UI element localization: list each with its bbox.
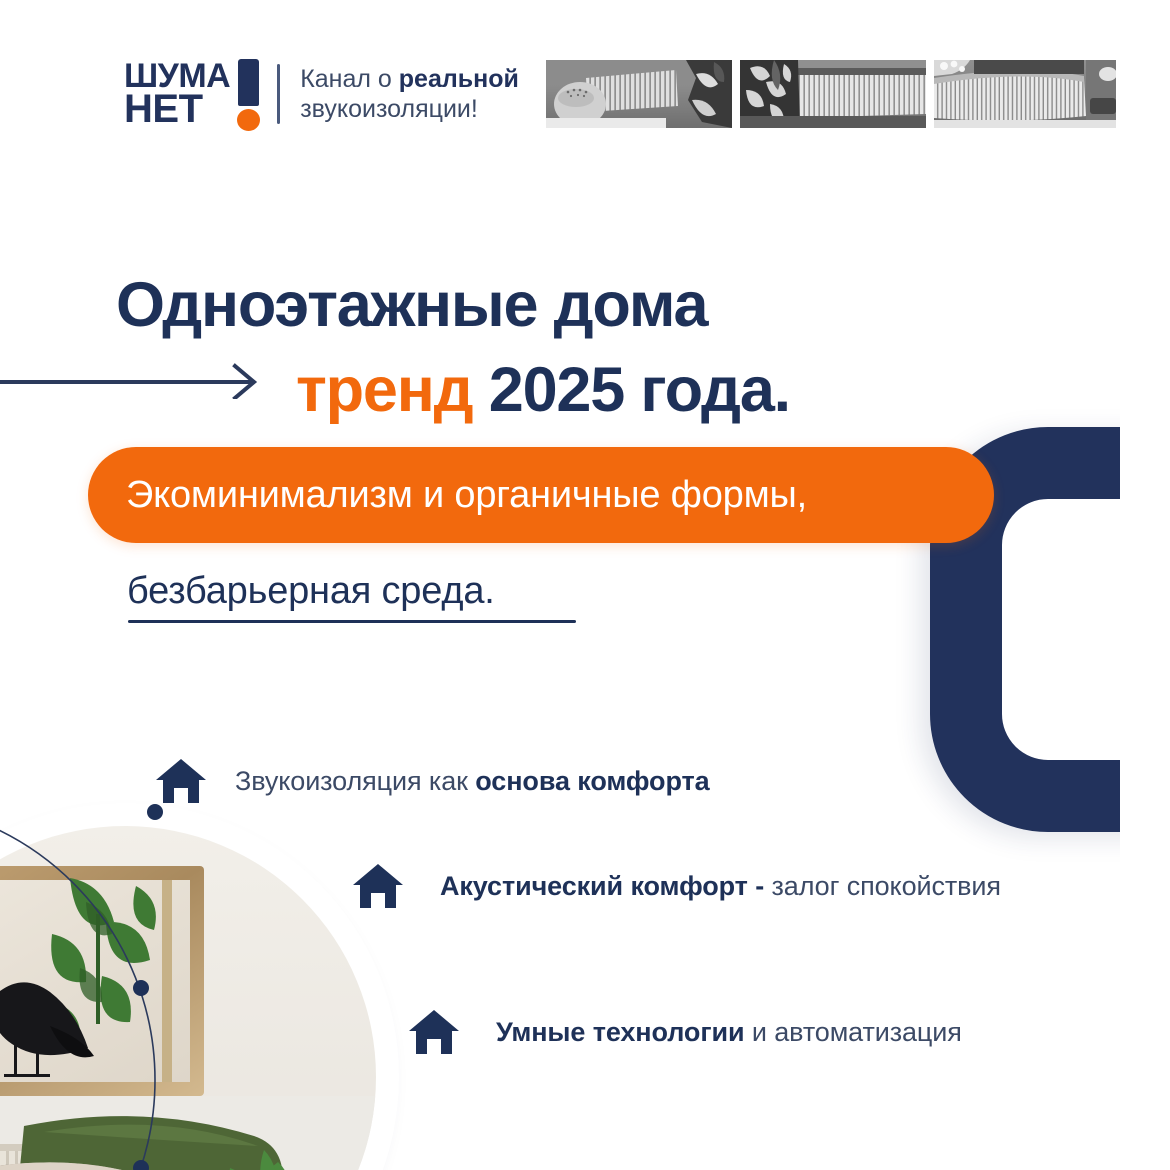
headline-accent-word: тренд [296,355,472,425]
headline-line-2-rest: 2025 года. [472,355,790,425]
logo-wordmark: ШУМА НЕТ [124,62,230,127]
acoustic-panel-vase-photo [546,60,732,128]
poster-canvas: ШУМА НЕТ Канал о реальной звукоизоляции! [0,0,1170,1170]
tagline-plain-1: Канал о [300,65,399,93]
c-ring-edge-mask [1120,400,1170,870]
bullet-1-bold: основа комфорта [475,766,709,796]
bullet-2-bold: Акустический комфорт - [440,871,764,901]
page-title: Одноэтажные дома тренд 2025 года. [110,274,1010,422]
interior-room-photo-inner [0,826,376,1170]
acoustic-panel-plant-photo [740,60,926,128]
exclamation-dot [237,109,260,131]
headline-line-1: Одноэтажные дома [110,274,1010,337]
bullet-1-plain-before: Звукоизоляция как [235,766,475,796]
header-photo-strips [546,60,1116,128]
logo-line2: НЕТ [124,92,203,126]
bullet-item-1: Звукоизоляция как основа комфорта [155,757,710,805]
exclamation-bar [238,59,259,106]
logo-tagline: Канал о реальной звукоизоляции! [300,64,519,125]
highlight-pill: Экоминимализм и органичные формы, [88,447,994,543]
subtitle-text: безбарьерная среда. [127,570,495,613]
headline-line-2: тренд 2025 года. [110,359,1010,422]
brand-logo[interactable]: ШУМА НЕТ Канал о реальной звукоизоляции! [124,57,519,131]
logo-row-bottom: НЕТ [124,91,230,126]
tagline-bold-1: реальной [399,65,519,93]
bullet-2-plain-after: залог спокойствия [764,871,1001,901]
exclamation-mark-icon [235,57,261,131]
highlight-pill-text: Экоминимализм и органичные формы, [88,474,807,517]
bullet-item-3: Умные технологии и автоматизация [408,1008,962,1056]
bullet-item-2: Акустический комфорт - залог спокойствия [352,862,1001,910]
bullet-text-1: Звукоизоляция как основа комфорта [235,766,710,797]
logo-divider [277,64,280,124]
house-icon [408,1008,460,1056]
acoustic-panel-closeup-photo [934,60,1116,128]
bullet-text-3: Умные технологии и автоматизация [496,1017,962,1048]
house-icon [155,757,207,805]
house-icon [352,862,404,910]
bullet-3-bold: Умные технологии [496,1017,744,1047]
bullet-text-2: Акустический комфорт - залог спокойствия [440,871,1001,902]
bullet-3-plain-after: и автоматизация [744,1017,961,1047]
subtitle-underline [128,620,576,623]
tagline-line-2: звукоизоляции! [300,95,478,123]
poster-header: ШУМА НЕТ Канал о реальной звукоизоляции! [0,0,1170,150]
interior-room-photo [0,812,390,1170]
